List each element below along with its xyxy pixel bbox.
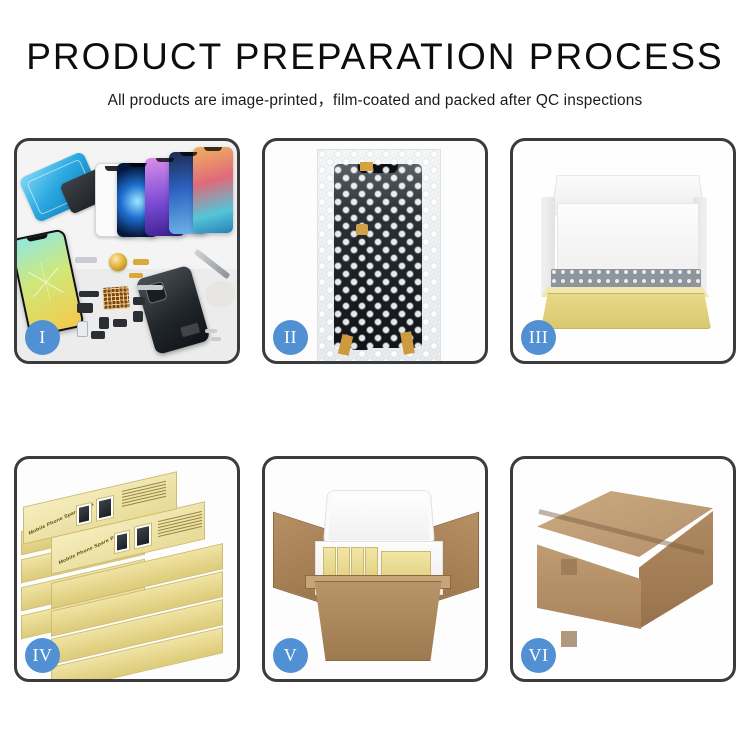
foam-padding [557, 203, 699, 277]
spare-part [129, 273, 143, 278]
box-window-left [114, 530, 130, 555]
kraft-box-base [541, 293, 711, 329]
box-window-right [96, 495, 114, 522]
page-subtitle: All products are image-printed，film-coat… [0, 88, 750, 110]
box-window-left [76, 502, 92, 527]
carton-tape-tab-upper [561, 559, 577, 575]
step-badge-1: I [25, 320, 60, 355]
spare-part [77, 321, 88, 337]
page-title: PRODUCT PREPARATION PROCESS [0, 38, 750, 77]
process-step-panel-5[interactable]: V [262, 456, 488, 682]
spare-part [99, 317, 109, 329]
spare-part [211, 337, 221, 341]
step-badge-4: IV [25, 638, 60, 673]
chip-grid-component [102, 286, 129, 310]
spare-part [137, 285, 163, 290]
spare-part [77, 303, 93, 313]
phone-display-gradient [193, 147, 233, 233]
header: PRODUCT PREPARATION PROCESS All products… [0, 0, 750, 110]
step-badge-5: V [273, 638, 308, 673]
spare-part [205, 329, 217, 333]
foam-cooler-lid [323, 490, 435, 545]
process-step-panel-4[interactable]: Mobile Phone Spare Parts Mobile Phone Sp… [14, 456, 240, 682]
bubble-wrap-bag [317, 149, 441, 361]
process-step-panel-2[interactable]: II [262, 138, 488, 364]
protective-tape [356, 224, 368, 235]
box-spec-lines [158, 511, 202, 539]
bubble-texture [318, 150, 440, 361]
step-badge-3: III [521, 320, 556, 355]
process-step-panel-1[interactable]: I [14, 138, 240, 364]
speaker-coil-gold [109, 253, 127, 271]
process-step-grid: I II [14, 138, 736, 682]
spare-part [113, 319, 127, 327]
carton-tape-tab-lower [561, 631, 577, 647]
gloved-hand [205, 281, 235, 307]
spare-part [75, 257, 97, 263]
step-badge-2: II [273, 320, 308, 355]
box-window-right [134, 522, 152, 549]
box-spec-lines [122, 481, 166, 509]
spare-part [133, 297, 145, 305]
protective-tape [360, 162, 373, 171]
step-badge-6: VI [521, 638, 556, 673]
process-step-panel-6[interactable]: VI [510, 456, 736, 682]
process-step-panel-3[interactable]: III [510, 138, 736, 364]
spare-part [91, 331, 105, 339]
spare-part [79, 291, 99, 297]
carton-body [309, 581, 447, 661]
spare-part [133, 259, 149, 265]
spare-part [133, 311, 143, 322]
product-preparation-infographic: PRODUCT PREPARATION PROCESS All products… [0, 0, 750, 750]
